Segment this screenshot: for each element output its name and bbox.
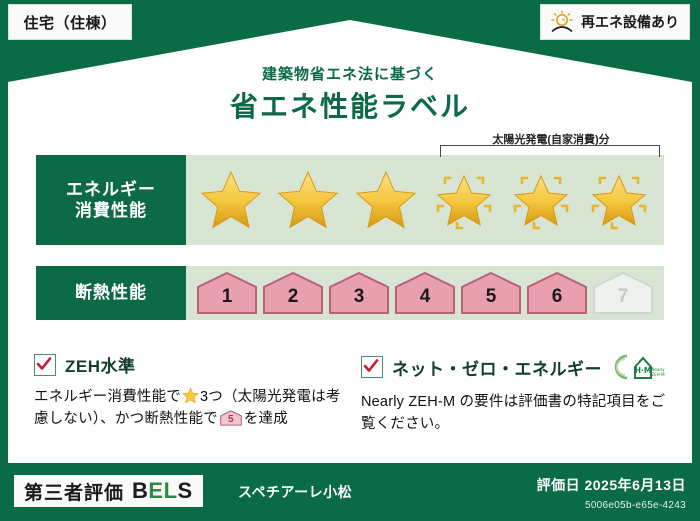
insulation-level-badge: 6 [526,271,588,315]
building-type-label: 住宅（住棟） [23,12,116,33]
zeh-standard-body: エネルギー消費性能で3つ（太陽光発電は考慮しない）、かつ断熱性能で5を達成 [34,386,343,431]
inline-insulation-badge-icon: 5 [220,410,242,426]
insulation-level-badge-inactive: 7 [592,271,654,315]
label-title: 省エネ性能ラベル [0,85,700,125]
check-icon [34,354,56,376]
insulation-level-number: 1 [196,271,258,315]
bels-letter-b: B [132,478,148,503]
zeh-m-logo-icon: H·M Nearly ZEH-M [613,352,665,382]
zeh-body-suffix: を達成 [244,411,288,427]
bels-logo: BELS [132,478,193,504]
building-name: スペチアーレ小松 [238,482,352,502]
renewable-equipment-badge: 再エネ設備あり [540,4,690,40]
net-zero-energy-header: ネット・ゼロ・エネルギー H·M Nearly ZEH-M [361,352,670,382]
bels-letter-el: EL [148,478,177,503]
evaluation-id: 5006e05b-e65e-4243 [585,500,686,511]
criteria-columns: ZEH水準 エネルギー消費性能で3つ（太陽光発電は考慮しない）、かつ断熱性能で5… [34,352,670,436]
insulation-performance-row: 断熱性能 1 2 3 4 [36,266,664,320]
inline-insulation-level: 5 [220,410,242,426]
evaluation-date: 評価日 2025年6月13日 [537,475,686,495]
evaluation-date-label: 評価日 [537,477,581,493]
renewable-badge-label: 再エネ設備あり [581,12,679,32]
rating-star-solar [431,167,497,233]
insulation-level-badge: 3 [328,271,390,315]
evaluation-date-value: 2025年6月13日 [584,477,686,493]
insulation-level-badge: 5 [460,271,522,315]
rating-star [353,167,419,233]
energy-performance-row: エネルギー 消費性能 太陽光発電(自家消費)分 [36,155,664,245]
energy-performance-value: 太陽光発電(自家消費)分 [186,155,664,245]
insulation-level-number: 3 [328,271,390,315]
sun-icon [549,10,575,34]
insulation-level-badge: 4 [394,271,456,315]
rating-star [275,167,341,233]
insulation-level-number: 7 [592,271,654,315]
inline-star-icon [182,387,199,404]
zeh-standard-title: ZEH水準 [65,352,136,377]
energy-performance-key: エネルギー 消費性能 [36,155,186,245]
check-icon [361,356,383,378]
insulation-performance-value: 1 2 3 4 5 [186,266,664,320]
star-rating [186,167,664,233]
building-type-tab: 住宅（住棟） [8,4,132,40]
insulation-level-badge: 2 [262,271,324,315]
insulation-level-number: 5 [460,271,522,315]
svg-text:ZEH-M: ZEH-M [651,372,665,377]
insulation-key-label: 断熱性能 [75,282,147,303]
net-zero-energy-block: ネット・ゼロ・エネルギー H·M Nearly ZEH-M Nearly ZEH… [361,352,670,436]
net-zero-energy-title: ネット・ゼロ・エネルギー [392,355,602,380]
zeh-standard-block: ZEH水準 エネルギー消費性能で3つ（太陽光発電は考慮しない）、かつ断熱性能で5… [34,352,343,436]
bels-certification-mark: 第三者評価 BELS [14,475,203,507]
insulation-level-number: 4 [394,271,456,315]
svg-text:H·M: H·M [635,366,652,375]
insulation-level-number: 2 [262,271,324,315]
energy-key-line2: 消費性能 [75,200,147,221]
energy-performance-label: 住宅（住棟） 再エネ設備あり 建築物省エネ法に基づく 省エネ性能ラベル [0,0,700,521]
insulation-level-number: 6 [526,271,588,315]
solar-bracket [440,145,660,157]
third-party-evaluation-label: 第三者評価 [24,478,124,505]
label-footer: 第三者評価 BELS スペチアーレ小松 評価日 2025年6月13日 5006e… [0,463,700,521]
insulation-level-scale: 1 2 3 4 5 [186,271,664,315]
rating-star [198,167,264,233]
insulation-level-badge: 1 [196,271,258,315]
energy-key-line1: エネルギー [66,179,156,200]
bels-letter-s: S [178,478,193,503]
insulation-performance-key: 断熱性能 [36,266,186,320]
zeh-standard-header: ZEH水準 [34,352,343,377]
rating-star-solar [586,167,652,233]
rating-star-solar [508,167,574,233]
zeh-body-prefix: エネルギー消費性能で [34,389,181,405]
label-subtitle: 建築物省エネ法に基づく [0,63,700,84]
net-zero-energy-body: Nearly ZEH-M の要件は評価書の特記項目をご覧ください。 [361,391,670,436]
